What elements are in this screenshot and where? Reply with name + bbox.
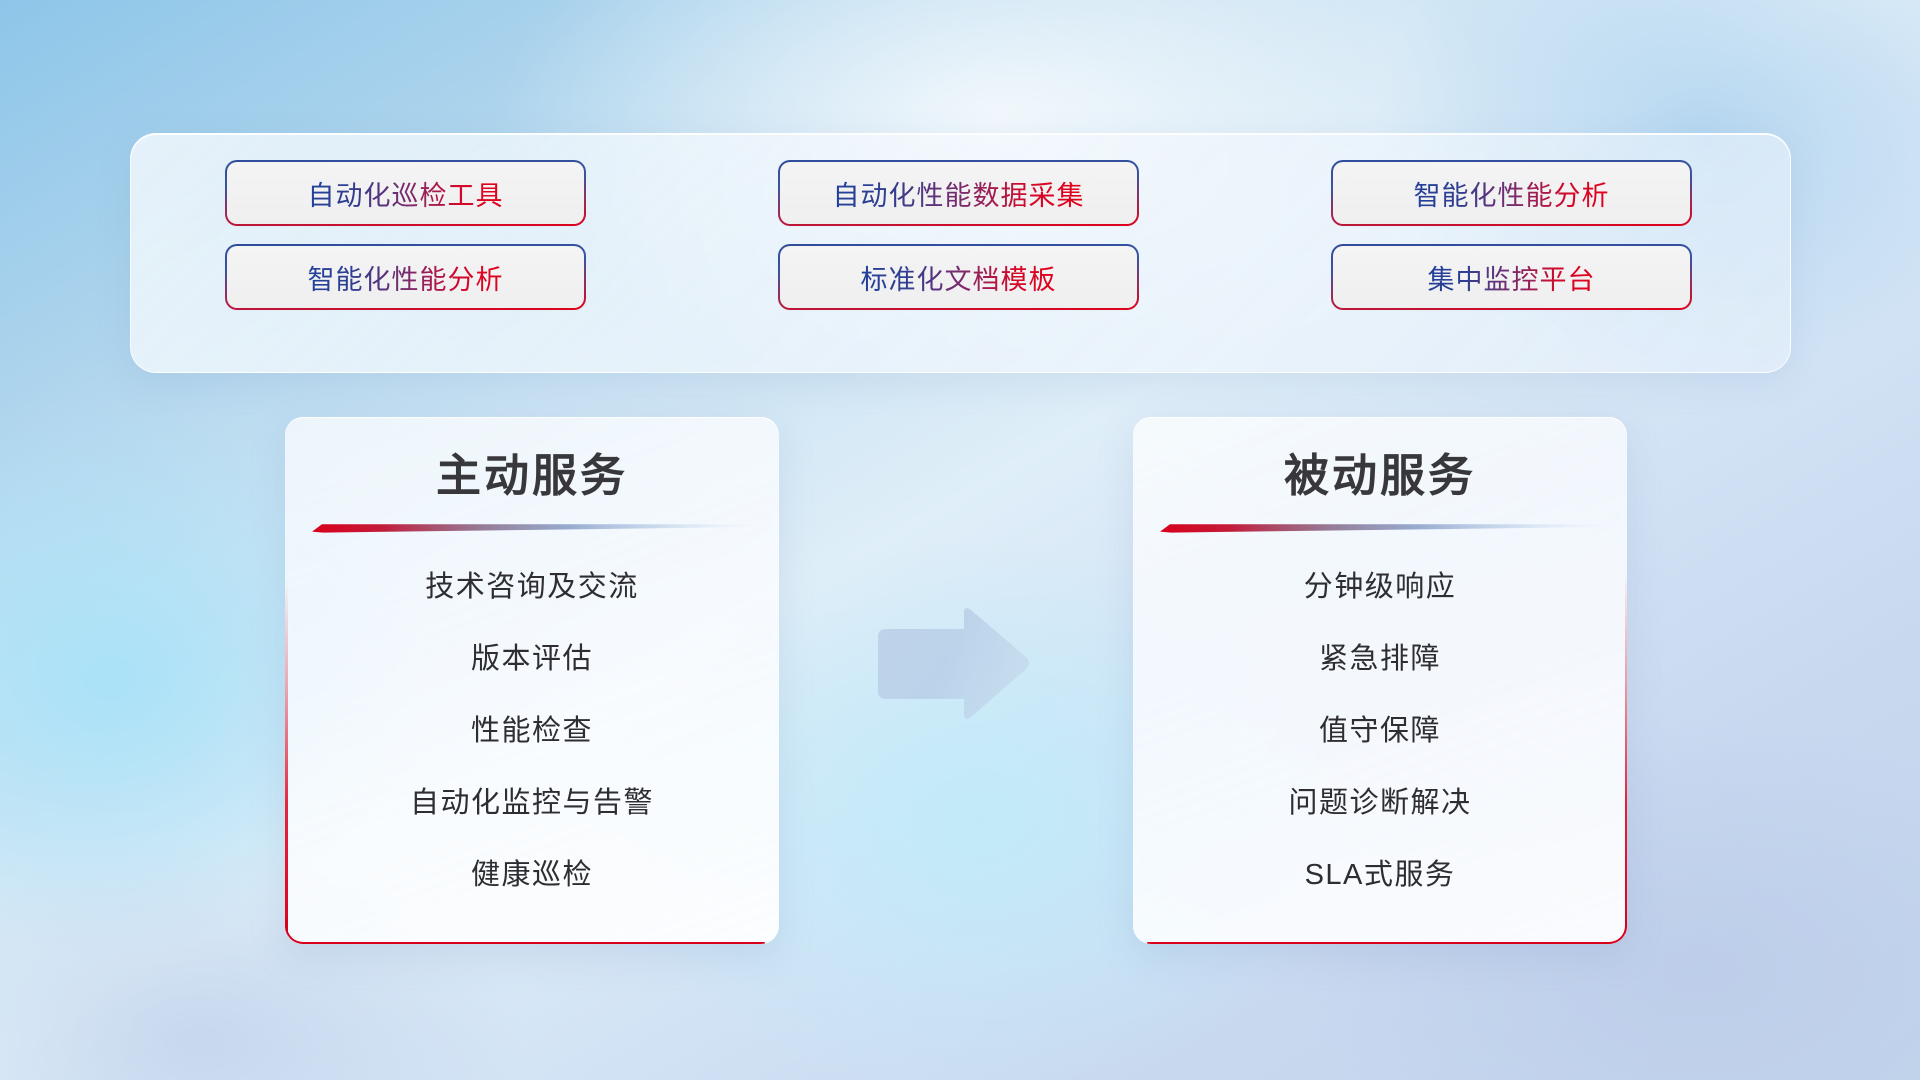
capability-chip-1[interactable]: 自动化性能数据采集 [780,162,1137,224]
capability-chip-label: 智能化性能分析 [308,258,504,297]
card-title-divider [312,523,752,534]
arrow-right-icon [872,605,1032,725]
capability-chip-3[interactable]: 智能化性能分析 [227,246,584,308]
capability-chip-4[interactable]: 标准化文档模板 [780,246,1137,308]
card-title-divider [1160,523,1600,534]
service-card-reactive[interactable]: 被动服务 分钟级响应 紧急排障 值守保障 [1133,417,1627,944]
card-accent-corner-bottom-left [285,918,311,944]
capability-chip-label: 标准化文档模板 [861,258,1057,297]
slide-canvas: 自动化巡检工具 自动化性能数据采集 智能化性能分析 智能化性能分析 标准化文档模… [0,0,1920,1080]
card-title: 主动服务 [285,439,779,504]
card-list-item: 性能检查 [285,695,779,767]
card-accent-edge-bottom [299,942,765,945]
card-list-item: 值守保障 [1133,695,1627,767]
capability-chip-label: 自动化性能数据采集 [833,174,1085,213]
service-card-proactive[interactable]: 主动服务 技术咨询及交流 版本评估 性能检查 [285,417,779,944]
capability-chip-5[interactable]: 集中监控平台 [1333,246,1690,308]
capability-chip-2[interactable]: 智能化性能分析 [1333,162,1690,224]
card-list-item: 技术咨询及交流 [285,551,779,623]
card-list-item: 紧急排障 [1133,623,1627,695]
capability-chip-label: 集中监控平台 [1428,258,1596,297]
card-accent-edge-bottom [1147,942,1613,945]
card-list-item: 问题诊断解决 [1133,767,1627,839]
card-list-item: SLA式服务 [1133,839,1627,911]
card-item-list: 分钟级响应 紧急排障 值守保障 问题诊断解决 SLA式服务 [1133,551,1627,911]
card-accent-corner-bottom-right [1601,918,1627,944]
card-list-item: 分钟级响应 [1133,551,1627,623]
card-list-item: 健康巡检 [285,839,779,911]
capability-panel: 自动化巡检工具 自动化性能数据采集 智能化性能分析 智能化性能分析 标准化文档模… [130,133,1791,373]
card-list-item: 版本评估 [285,623,779,695]
capability-chip-label: 自动化巡检工具 [308,174,504,213]
capability-chip-grid: 自动化巡检工具 自动化性能数据采集 智能化性能分析 智能化性能分析 标准化文档模… [227,162,1697,308]
capability-chip-label: 智能化性能分析 [1414,174,1610,213]
card-item-list: 技术咨询及交流 版本评估 性能检查 自动化监控与告警 健康巡检 [285,551,779,911]
card-list-item: 自动化监控与告警 [285,767,779,839]
capability-chip-0[interactable]: 自动化巡检工具 [227,162,584,224]
card-title: 被动服务 [1133,439,1627,504]
